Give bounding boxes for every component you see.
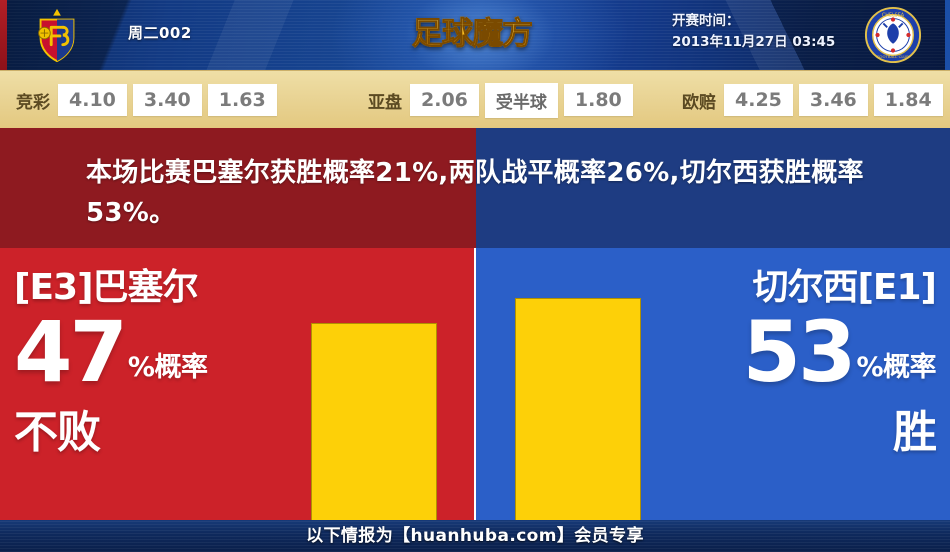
footer-notice: 以下情报为【huanhuba.com】会员专享 xyxy=(0,520,950,552)
odds-cell-home[interactable]: 2.06 xyxy=(410,84,479,116)
odds-group-label: 亚盘 xyxy=(368,88,402,113)
home-probability-row: 47 %概率 xyxy=(14,314,314,391)
odds-bar: 竞彩 4.10 3.40 1.63 亚盘 2.06 受半球 1.80 欧赔 4.… xyxy=(0,70,950,130)
odds-group-label: 竞彩 xyxy=(16,88,50,113)
header-right-accent xyxy=(945,0,950,70)
match-number: 周二002 xyxy=(128,22,192,43)
odds-group-label: 欧赔 xyxy=(682,88,716,113)
odds-cell-handicap[interactable]: 受半球 xyxy=(485,83,558,118)
probability-chart: [E3]巴塞尔 47 %概率 不败 切尔西[E1] 53 %概率 胜 xyxy=(0,248,950,520)
away-team-block: 切尔西[E1] 53 %概率 胜 xyxy=(636,264,936,461)
odds-cell-draw[interactable]: 3.40 xyxy=(133,84,202,116)
basel-crest-icon xyxy=(28,6,86,64)
away-probability-value: 53 xyxy=(743,314,854,391)
away-probability-row: 53 %概率 xyxy=(636,314,936,391)
site-logo[interactable]: 足球魔方 xyxy=(412,11,552,57)
odds-cell-away[interactable]: 1.80 xyxy=(564,84,633,116)
home-team-block: [E3]巴塞尔 47 %概率 不败 xyxy=(14,264,314,461)
odds-cell-away[interactable]: 1.63 xyxy=(208,84,277,116)
odds-group-jingcai: 竞彩 4.10 3.40 1.63 xyxy=(16,71,283,129)
panel-divider xyxy=(474,248,476,520)
footer-bar: 以下情报为【huanhuba.com】会员专享 xyxy=(0,520,950,552)
home-verdict: 不败 xyxy=(14,405,314,461)
probability-summary-text: 本场比赛巴塞尔获胜概率21%,两队战平概率26%,切尔西获胜概率53%。 xyxy=(86,153,876,233)
home-probability-value: 47 xyxy=(14,314,125,391)
odds-cell-home[interactable]: 4.25 xyxy=(724,84,793,116)
away-probability-bar xyxy=(515,298,641,522)
home-probability-unit: %概率 xyxy=(125,354,208,391)
chelsea-crest-icon: CHELSEA FOOTBALL CLUB xyxy=(864,6,922,64)
odds-cell-home[interactable]: 4.10 xyxy=(58,84,127,116)
home-probability-bar xyxy=(311,323,437,522)
match-prediction-card: 周二002 足球魔方 开赛时间： 2013年11月27日 03:45 CHELS… xyxy=(0,0,950,552)
svg-text:CHELSEA: CHELSEA xyxy=(882,13,905,19)
kickoff-info: 开赛时间： 2013年11月27日 03:45 xyxy=(672,11,835,53)
away-probability-unit: %概率 xyxy=(853,354,936,391)
svg-text:FOOTBALL CLUB: FOOTBALL CLUB xyxy=(877,54,909,59)
odds-group-yapan: 亚盘 2.06 受半球 1.80 xyxy=(368,71,639,129)
odds-cell-draw[interactable]: 3.46 xyxy=(799,84,868,116)
header-left-accent xyxy=(0,0,7,70)
header-bar: 周二002 足球魔方 开赛时间： 2013年11月27日 03:45 CHELS… xyxy=(0,0,950,70)
away-verdict: 胜 xyxy=(636,405,936,461)
probability-summary-banner: 本场比赛巴塞尔获胜概率21%,两队战平概率26%,切尔西获胜概率53%。 xyxy=(0,128,950,248)
odds-cell-away[interactable]: 1.84 xyxy=(874,84,943,116)
kickoff-label: 开赛时间： xyxy=(672,11,835,32)
kickoff-time: 2013年11月27日 03:45 xyxy=(672,32,835,53)
site-logo-text: 足球魔方 xyxy=(412,11,552,57)
odds-group-oupei: 欧赔 4.25 3.46 1.84 xyxy=(682,71,949,129)
